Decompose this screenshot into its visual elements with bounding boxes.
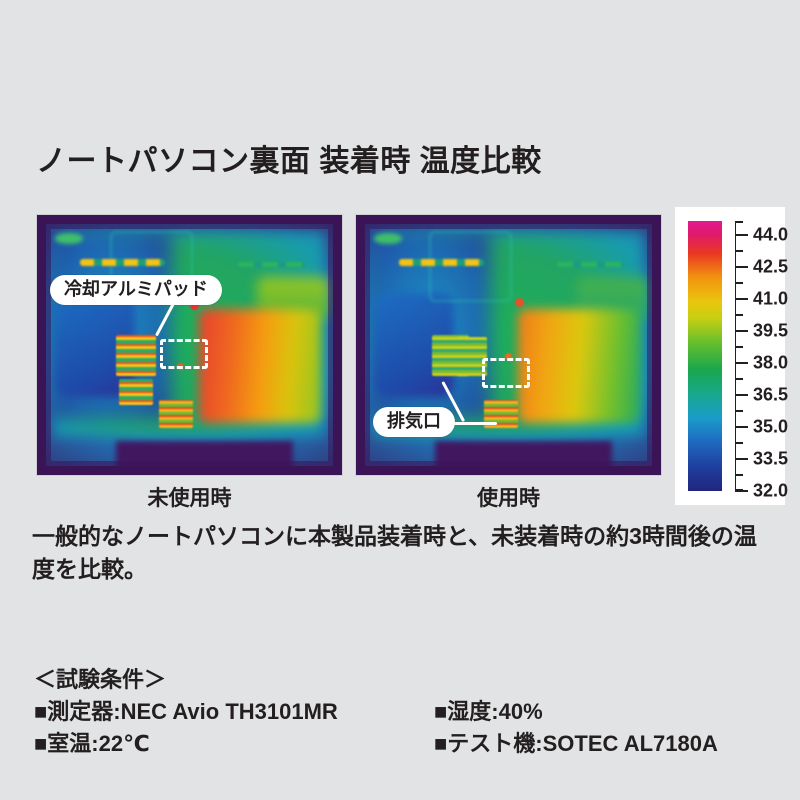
colorbar-tick-35-0 <box>735 426 748 428</box>
roi-box-unused <box>160 339 208 369</box>
colorbar-tick-38-0 <box>735 362 748 364</box>
colorbar-tick-44-0 <box>735 234 748 236</box>
colorbar-tick-minor-8 <box>735 474 743 476</box>
callout-exhaust-port: 排気口 <box>373 407 455 437</box>
page-root: ノートパソコン裏面 装着時 温度比較 冷却アルミパッド <box>0 0 800 800</box>
callout-leader-used-b <box>453 422 497 425</box>
colorbar-label-1: 42.5 <box>753 257 788 278</box>
condition-test-machine: ■テスト機:SOTEC AL7180A <box>434 726 718 758</box>
caption-unused: 未使用時 <box>36 482 343 512</box>
colorbar-label-6: 35.0 <box>753 417 788 438</box>
condition-humidity: ■湿度:40% <box>434 694 543 726</box>
caption-used: 使用時 <box>355 482 662 512</box>
colorbar-tick-minor-2 <box>735 282 743 284</box>
thermal-canvas-used: 排気口 <box>356 215 661 475</box>
colorbar-tick-42-5 <box>735 266 748 268</box>
condition-measuring-device: ■測定器:NEC Avio TH3101MR <box>34 694 338 726</box>
colorbar-tick-minor-1 <box>735 250 743 252</box>
colorbar-tick-minor-4 <box>735 346 743 348</box>
thermal-image-unused: 冷却アルミパッド <box>36 214 343 476</box>
colorbar-label-0: 44.0 <box>753 225 788 246</box>
page-title: ノートパソコン裏面 装着時 温度比較 <box>36 136 542 180</box>
colorbar-tick-minor-6 <box>735 410 743 412</box>
colorbar-tick-minor-5 <box>735 378 743 380</box>
conditions-heading: ＜試験条件＞ <box>34 662 166 694</box>
colorbar-tick-33-5 <box>735 458 748 460</box>
colorbar-tick-41-0 <box>735 298 748 300</box>
colorbar-label-2: 41.0 <box>753 289 788 310</box>
colorbar-tick-32-0 <box>735 490 748 492</box>
colorbar-tick-minor-3 <box>735 314 743 316</box>
condition-room-temperature: ■室温:22℃ <box>34 726 150 758</box>
colorbar-label-5: 36.5 <box>753 385 788 406</box>
colorbar-label-4: 38.0 <box>753 353 788 374</box>
roi-box-used <box>482 358 530 388</box>
temperature-colorbar: 44.0 42.5 41.0 39.5 38.0 36.5 35.0 33.5 … <box>675 207 785 505</box>
colorbar-label-3: 39.5 <box>753 321 788 342</box>
thermal-canvas-unused: 冷却アルミパッド <box>37 215 342 475</box>
colorbar-tick-36-5 <box>735 394 748 396</box>
colorbar-gradient <box>688 221 722 491</box>
colorbar-tick-cap-top <box>735 221 743 223</box>
colorbar-label-8: 32.0 <box>753 481 788 502</box>
colorbar-tick-39-5 <box>735 330 748 332</box>
callout-cooling-pad: 冷却アルミパッド <box>50 275 222 305</box>
colorbar-axis-line <box>735 221 736 491</box>
thermal-image-used: 排気口 <box>355 214 662 476</box>
description-text: 一般的なノートパソコンに本製品装着時と、未装着時の約3時間後の温度を比較。 <box>32 520 772 585</box>
colorbar-label-7: 33.5 <box>753 449 788 470</box>
colorbar-tick-minor-7 <box>735 442 743 444</box>
